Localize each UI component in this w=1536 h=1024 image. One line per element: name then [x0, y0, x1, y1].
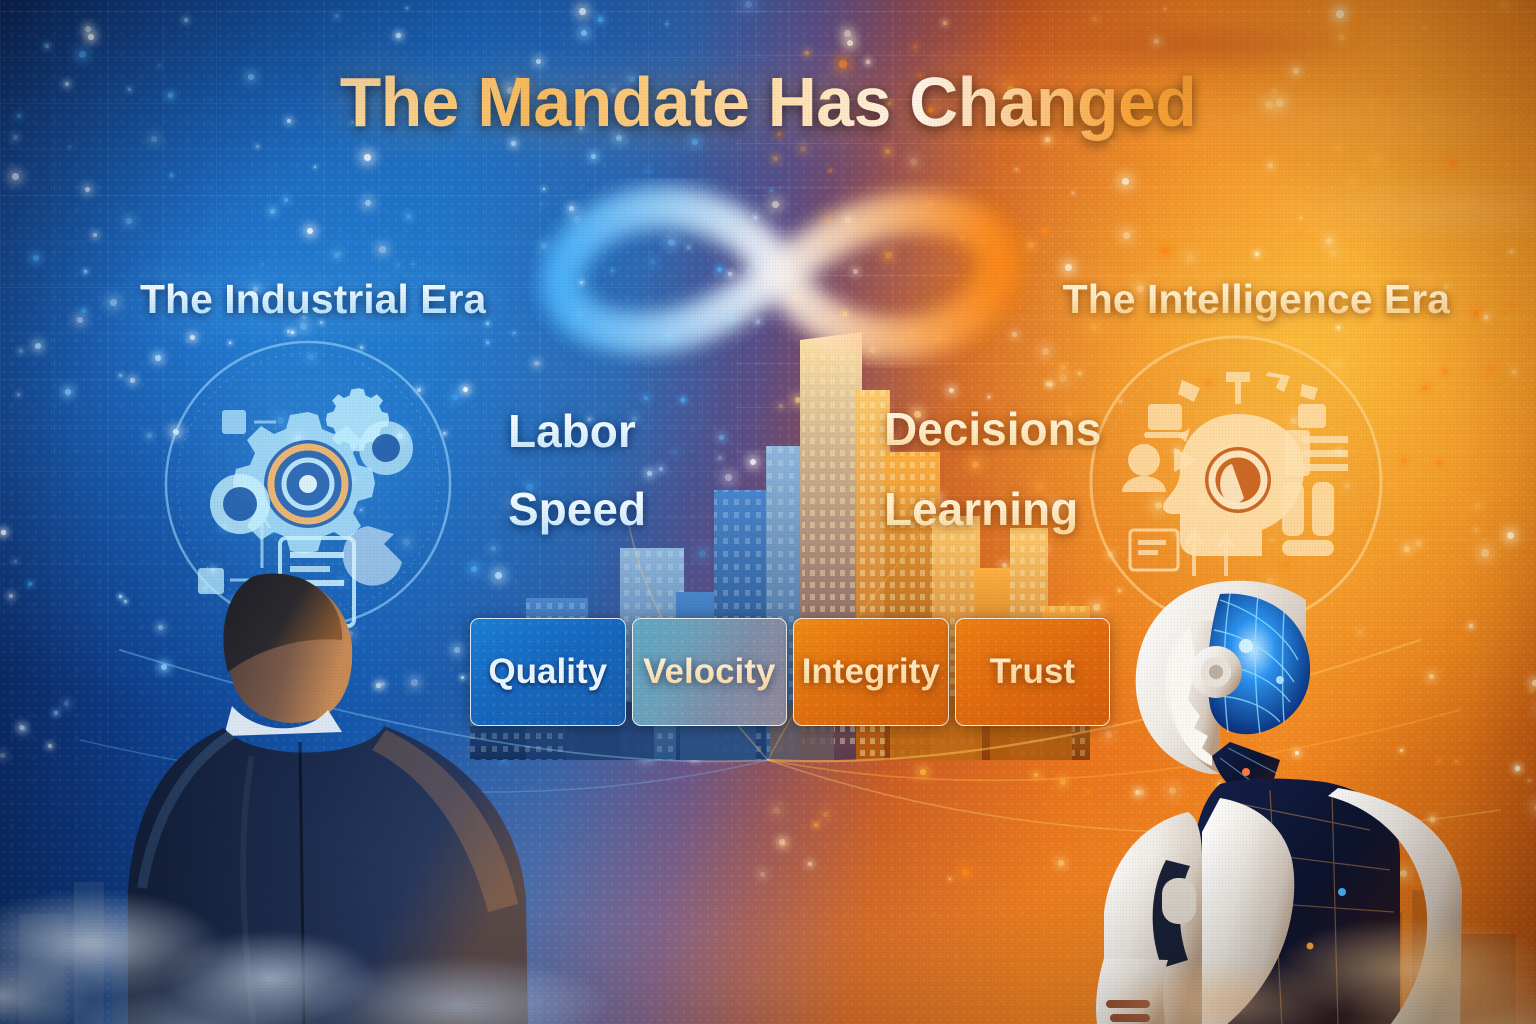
poster-canvas: The Mandate Has Changed The Industrial E… [0, 0, 1536, 1024]
grain-overlay [0, 0, 1536, 1024]
